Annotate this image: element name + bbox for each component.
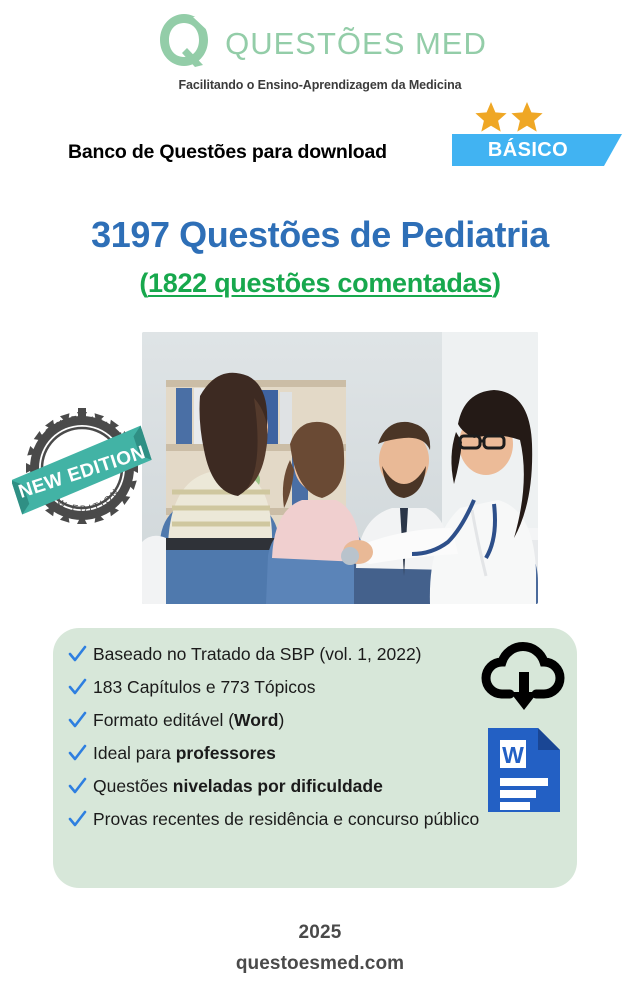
- check-icon: [66, 706, 88, 734]
- level-badge: BÁSICO: [452, 100, 640, 180]
- cloud-download-icon: [478, 636, 570, 714]
- list-item-label: Baseado no Tratado da SBP (vol. 1, 2022): [93, 640, 486, 668]
- word-document-icon: W: [486, 726, 562, 814]
- new-edition-seal: NEW EDITION NEW EDITION NEW EDITION: [12, 404, 152, 528]
- logo-row: QUESTÕES MED: [0, 8, 640, 74]
- clinic-consultation-photo: [142, 332, 538, 604]
- list-item-label: Ideal para professores: [93, 739, 486, 767]
- list-item: Baseado no Tratado da SBP (vol. 1, 2022): [66, 640, 486, 668]
- list-item-label: Formato editável (Word): [93, 706, 486, 734]
- star-icon: [510, 100, 544, 134]
- brand-tagline: Facilitando o Ensino-Aprendizagem da Med…: [0, 78, 640, 92]
- brand-logo-block: QUESTÕES MED Facilitando o Ensino-Aprend…: [0, 8, 640, 92]
- check-icon: [66, 805, 88, 833]
- subtitle-open-paren: (: [139, 268, 148, 298]
- list-item-label: Questões niveladas por dificuldade: [93, 772, 486, 800]
- subtitle-close-paren: ): [492, 268, 501, 298]
- list-item: Formato editável (Word): [66, 706, 486, 734]
- page-subtitle: (1822 questões comentadas): [0, 268, 640, 299]
- check-icon: [66, 772, 88, 800]
- list-item-label: 183 Capítulos e 773 Tópicos: [93, 673, 486, 701]
- check-icon: [66, 739, 88, 767]
- features-list: Baseado no Tratado da SBP (vol. 1, 2022)…: [66, 640, 486, 838]
- list-item: Provas recentes de residência e concurso…: [66, 805, 486, 833]
- list-item: Ideal para professores: [66, 739, 486, 767]
- list-item-label: Provas recentes de residência e concurso…: [93, 805, 486, 833]
- subtitle-underlined-text: 1822 questões comentadas: [148, 268, 492, 298]
- list-item: 183 Capítulos e 773 Tópicos: [66, 673, 486, 701]
- word-letter: W: [502, 742, 524, 768]
- badge-label: BÁSICO: [452, 134, 604, 166]
- check-icon: [66, 640, 88, 668]
- footer-website: questoesmed.com: [0, 953, 640, 975]
- letter-q-ring-logo-icon: [153, 10, 215, 72]
- badge-stars: [474, 100, 544, 134]
- check-icon: [66, 673, 88, 701]
- star-icon: [474, 100, 508, 134]
- headline-text: Banco de Questões para download: [68, 141, 387, 164]
- footer: 2025 questoesmed.com: [0, 922, 640, 975]
- headline-row: Banco de Questões para download BÁSICO: [0, 136, 640, 180]
- footer-year: 2025: [0, 922, 640, 944]
- brand-wordmark: QUESTÕES MED: [225, 24, 487, 59]
- list-item: Questões niveladas por dificuldade: [66, 772, 486, 800]
- page-title: 3197 Questões de Pediatria: [0, 214, 640, 256]
